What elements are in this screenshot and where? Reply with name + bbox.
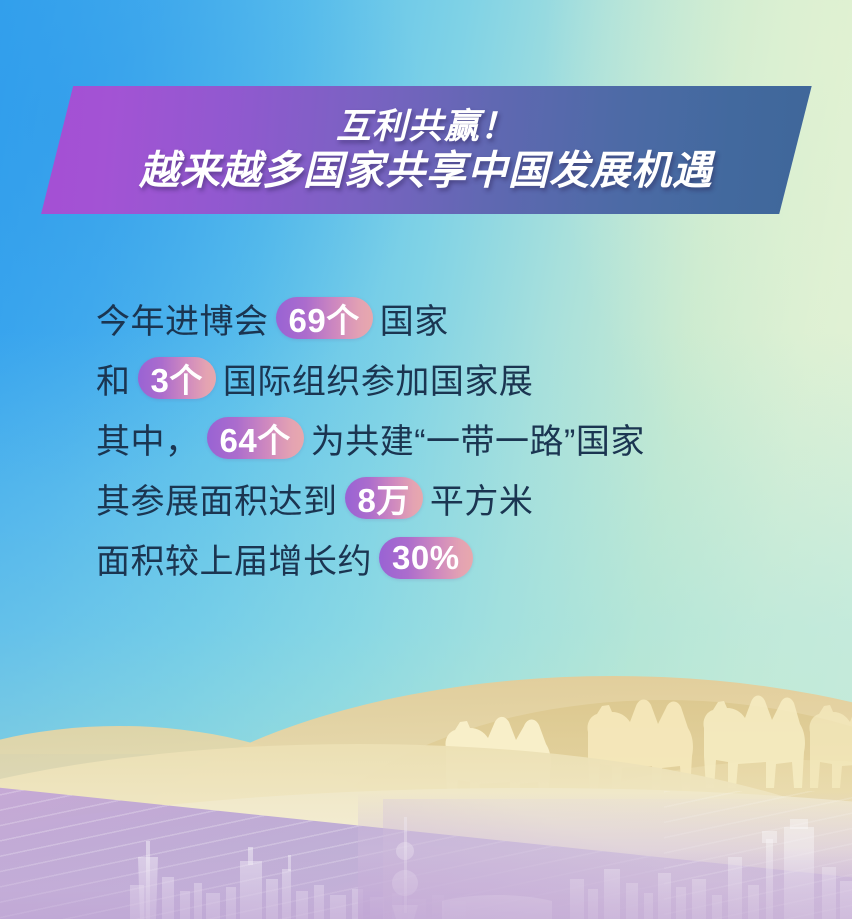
title-line-1: 互利共赢！: [336, 108, 516, 145]
stat-text-post: 平方米: [430, 474, 534, 523]
stat-line: 其中， 64个 为共建“一带一路”国家: [96, 408, 796, 468]
stat-text-pre: 其参展面积达到: [96, 474, 338, 523]
title-banner: 互利共赢！ 越来越多国家共享中国发展机遇: [30, 86, 822, 214]
stat-text-pre: 和: [96, 354, 131, 403]
stat-text-post: 为共建“一带一路”国家: [311, 414, 645, 463]
stat-highlight-pill: 69个: [276, 297, 373, 339]
stat-line: 今年进博会 69个 国家: [96, 288, 796, 348]
stat-line: 其参展面积达到 8万 平方米: [96, 468, 796, 528]
stat-highlight-pill: 64个: [207, 417, 304, 459]
stats-list: 今年进博会 69个 国家 和 3个 国际组织参加国家展 其中， 64个 为共建“…: [96, 288, 796, 588]
stat-text-post: 国际组织参加国家展: [223, 354, 534, 403]
title-line-2: 越来越多国家共享中国发展机遇: [139, 150, 713, 192]
stat-text-pre: 面积较上届增长约: [96, 534, 372, 583]
bottom-fade-right: [383, 799, 852, 919]
stat-text-post: 国家: [380, 294, 449, 343]
stat-highlight-pill: 30%: [379, 537, 473, 579]
stat-highlight-pill: 8万: [345, 477, 423, 519]
stat-text-pre: 今年进博会: [96, 294, 269, 343]
infographic-poster: 互利共赢！ 越来越多国家共享中国发展机遇 今年进博会 69个 国家 和 3个 国…: [0, 0, 852, 919]
stat-text-pre: 其中，: [96, 414, 200, 463]
camel-icon: [798, 690, 852, 790]
stat-line: 面积较上届增长约 30%: [96, 528, 796, 588]
stat-line: 和 3个 国际组织参加国家展: [96, 348, 796, 408]
stat-highlight-pill: 3个: [138, 357, 216, 399]
